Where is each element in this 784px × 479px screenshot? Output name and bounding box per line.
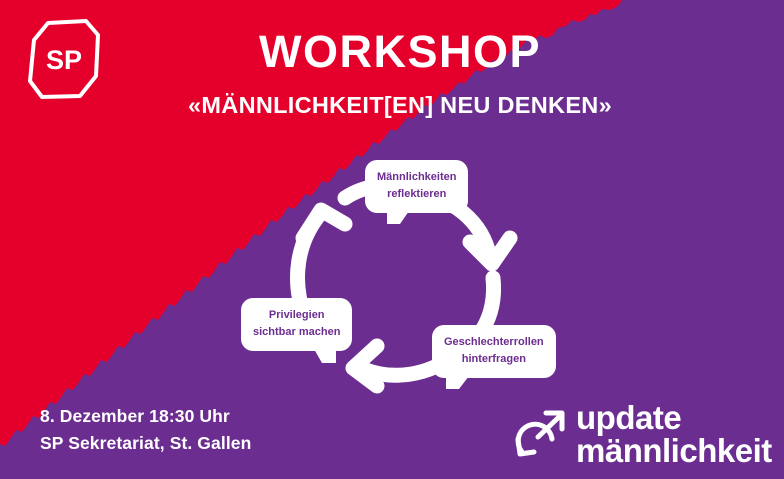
headings-block: WORKSHOP «MÄNNLICHKEIT[EN] NEU DENKEN» [130,28,670,119]
page-subtitle: «MÄNNLICHKEIT[EN] NEU DENKEN» [130,93,670,119]
bubble-line-2: reflektieren [377,186,456,203]
event-details: 8. Dezember 18:30 Uhr SP Sekretariat, St… [40,403,251,457]
logo-word-update: update [576,401,772,434]
bubble-tail [387,211,409,224]
update-maennlichkeit-wordmark: update männlichkeit [576,401,772,467]
bubble-line-1: Geschlechterrollen [444,334,544,351]
bubble-maennlichkeiten-reflektieren: Männlichkeiten reflektieren [365,160,468,213]
bubble-line-2: sichtbar machen [253,324,340,341]
bubble-line-1: Privilegien [253,307,340,324]
event-location: SP Sekretariat, St. Gallen [40,430,251,457]
bubble-privilegien-sichtbar-machen: Privilegien sichtbar machen [241,298,352,351]
bubble-tail [314,349,336,363]
logo-word-maennlichkeit: männlichkeit [576,434,772,467]
sp-logo-text: SP [46,45,82,75]
bubble-line-2: hinterfragen [444,351,544,368]
arrow-bottom-left [353,346,437,386]
update-maennlichkeit-logo: update männlichkeit [508,398,760,470]
sp-logo: SP [26,18,102,100]
event-datetime: 8. Dezember 18:30 Uhr [40,403,251,430]
page-title: WORKSHOP [130,28,670,75]
poster-canvas: SP WORKSHOP «MÄNNLICHKEIT[EN] NEU DENKEN… [0,0,784,479]
bubble-tail [446,376,469,389]
mars-refresh-icon [508,403,570,465]
bubble-geschlechterrollen-hinterfragen: Geschlechterrollen hinterfragen [432,325,556,378]
bubble-line-1: Männlichkeiten [377,169,456,186]
